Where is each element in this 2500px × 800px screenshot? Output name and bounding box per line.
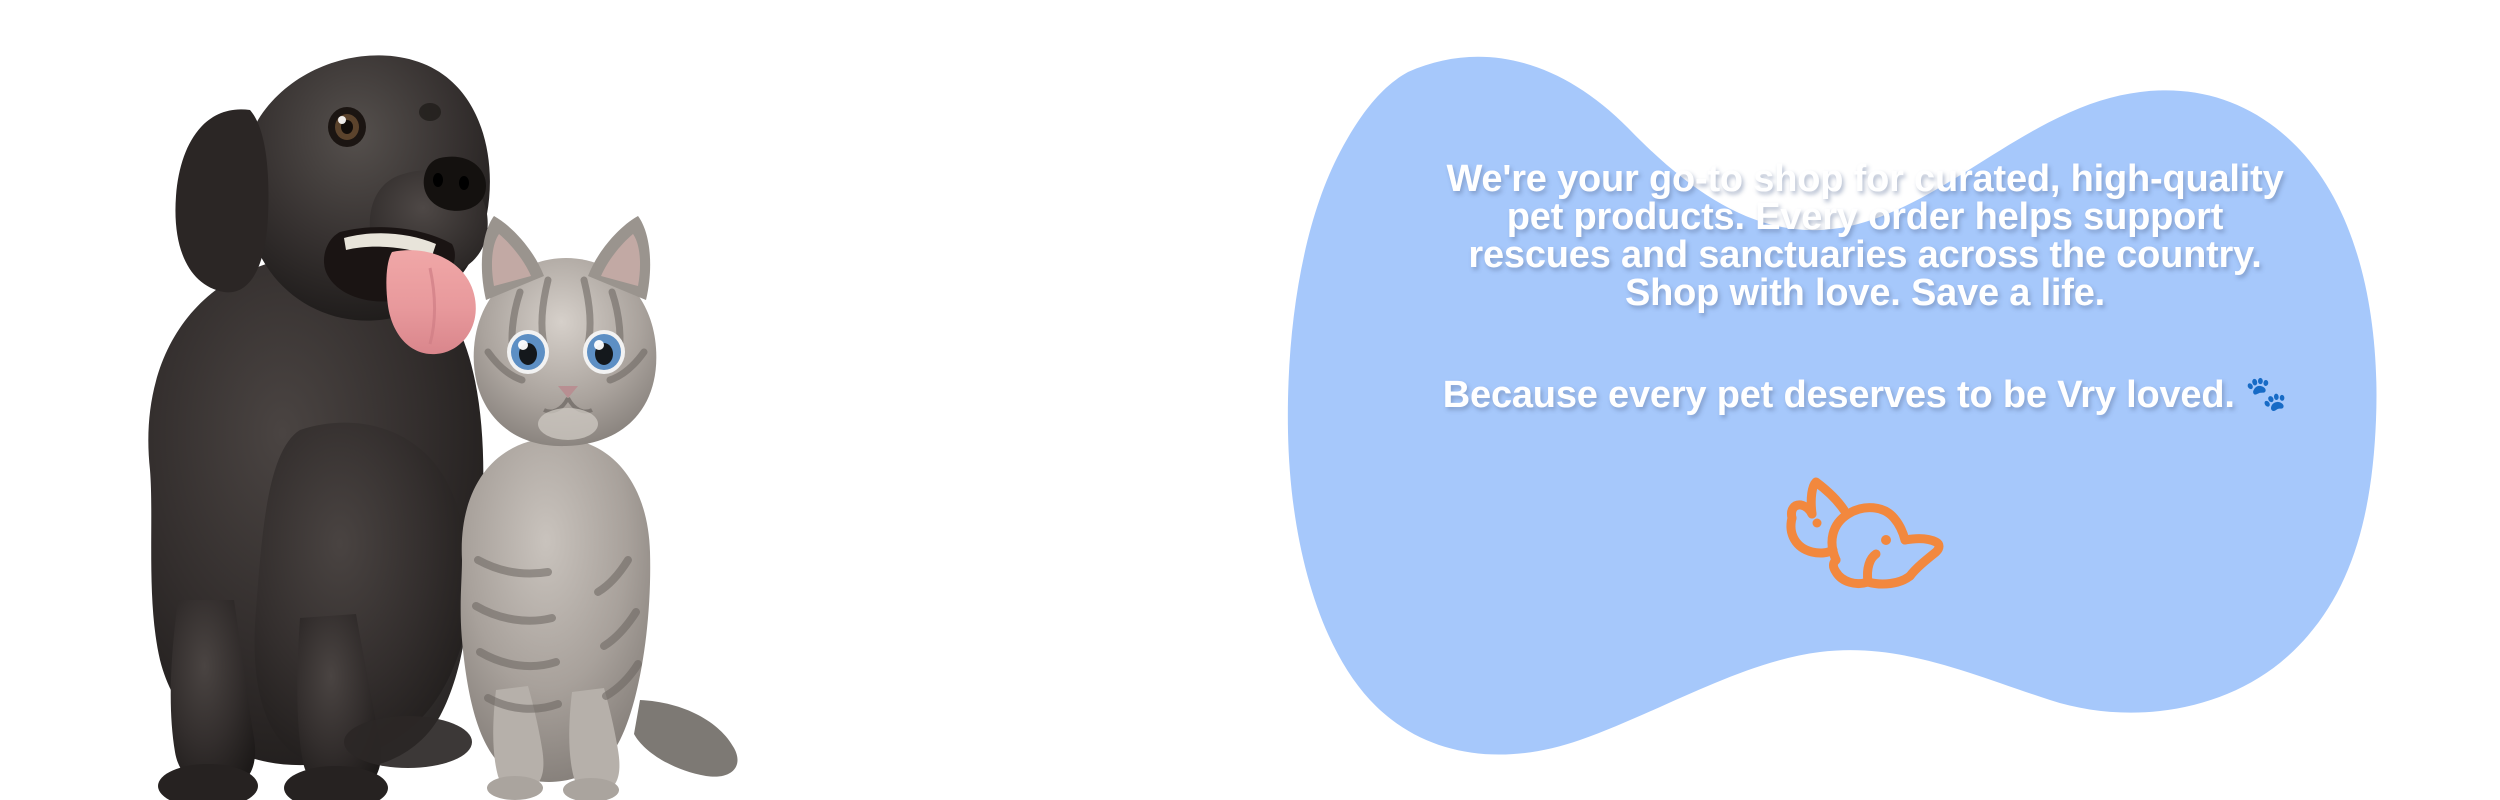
cat-and-dog-icon-wrap — [1770, 468, 1960, 593]
pet-photo — [0, 0, 790, 800]
closing-line: Because every pet deserves to be Vry lov… — [1315, 376, 2415, 414]
cat-and-dog-outline-icon — [1770, 468, 1960, 593]
message-blob-pane: We're your go-to shop for curated, high-… — [1230, 0, 2500, 800]
puppy-illustration — [148, 55, 490, 800]
pet-photo-pane — [0, 0, 790, 800]
paw-prints-icon: 🐾 — [2245, 375, 2287, 413]
blob-content: We're your go-to shop for curated, high-… — [1230, 0, 2500, 800]
closing-text: Because every pet deserves to be Vry lov… — [1443, 374, 2235, 416]
tagline-text: We're your go-to shop for curated, high-… — [1335, 160, 2395, 312]
hero-banner: We're your go-to shop for curated, high-… — [0, 0, 2500, 800]
